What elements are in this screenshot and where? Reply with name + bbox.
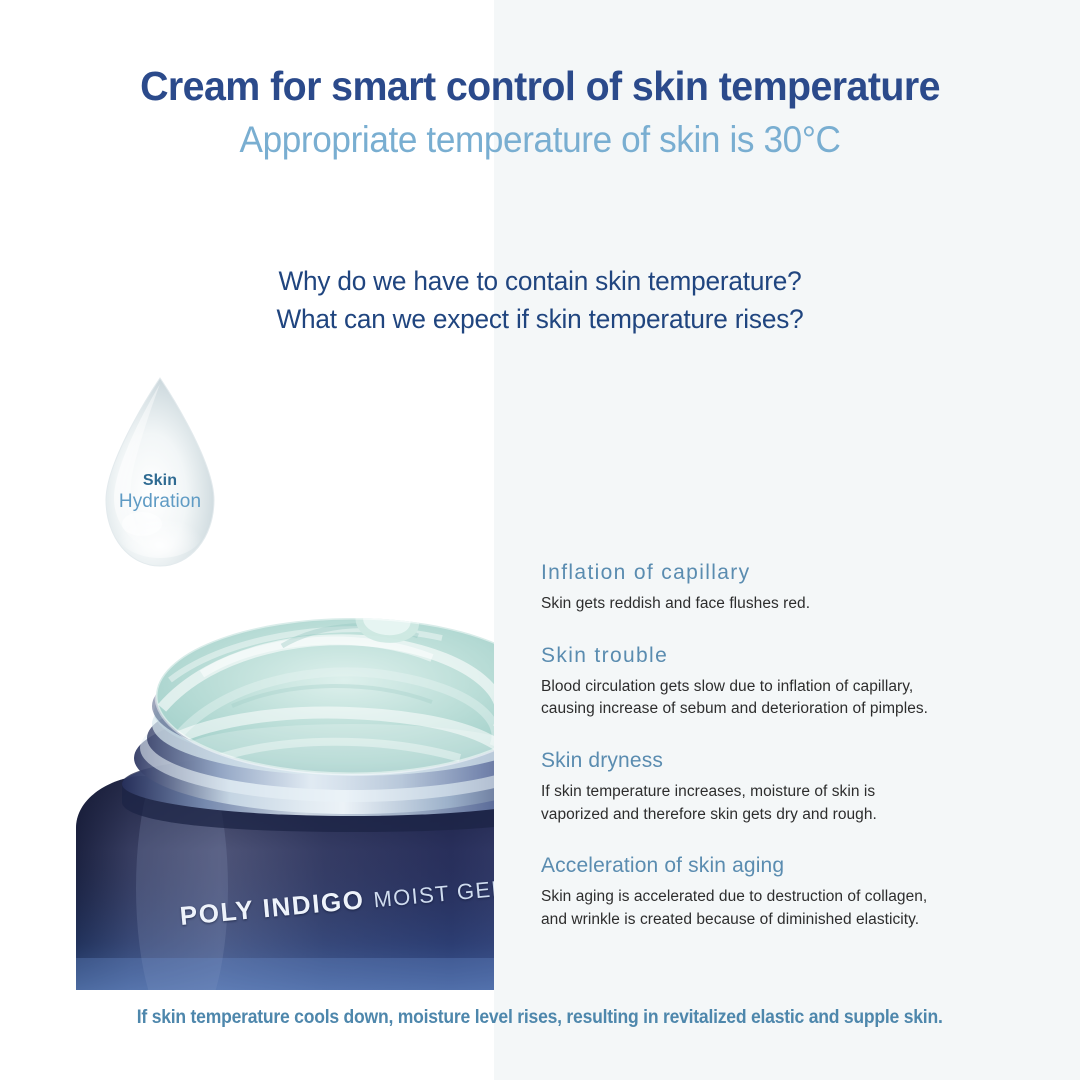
page-title: Cream for smart control of skin temperat… — [22, 64, 1059, 110]
effect-body-line: Skin aging is accelerated due to destruc… — [541, 886, 1041, 908]
effect-item-inflation-of-capillary: Inflation of capillary Skin gets reddish… — [541, 560, 1041, 616]
cream-jar-icon — [62, 588, 494, 990]
effect-body: Skin aging is accelerated due to destruc… — [541, 886, 1041, 931]
effect-body-line: causing increase of sebum and deteriorat… — [541, 698, 1041, 720]
effects-list: Inflation of capillary Skin gets reddish… — [541, 560, 1041, 931]
effect-heading: Acceleration of skin aging — [541, 853, 1041, 879]
effect-heading: Skin dryness — [541, 748, 1041, 774]
page-subtitle: Appropriate temperature of skin is 30°C — [27, 116, 1053, 164]
effect-body: If skin temperature increases, moisture … — [541, 781, 1041, 826]
product-jar-clip: POLY INDIGOMOIST GEL CRE — [0, 588, 494, 990]
water-droplet-graphic: Skin Hydration — [96, 374, 224, 570]
question-line-1: Why do we have to contain skin temperatu… — [16, 262, 1064, 300]
bottom-caption: If skin temperature cools down, moisture… — [0, 1006, 1080, 1029]
effect-body: Skin gets reddish and face flushes red. — [541, 593, 1041, 615]
effect-body: Blood circulation gets slow due to infla… — [541, 676, 1041, 721]
headline-block: Cream for smart control of skin temperat… — [0, 64, 1080, 164]
effect-body-line: If skin temperature increases, moisture … — [541, 781, 1041, 803]
effect-body-line: vaporized and therefore skin gets dry an… — [541, 804, 1041, 826]
product-jar-graphic: POLY INDIGOMOIST GEL CRE — [62, 588, 494, 990]
effect-item-skin-trouble: Skin trouble Blood circulation gets slow… — [541, 643, 1041, 721]
effect-heading: Inflation of capillary — [541, 560, 1041, 586]
effect-item-skin-dryness: Skin dryness If skin temperature increas… — [541, 748, 1041, 826]
effect-body-line: and wrinkle is created because of dimini… — [541, 909, 1041, 931]
bottom-caption-text: If skin temperature cools down, moisture… — [137, 1006, 943, 1029]
effect-heading: Skin trouble — [541, 643, 1041, 669]
question-block: Why do we have to contain skin temperatu… — [0, 262, 1080, 339]
effect-item-acceleration-of-skin-aging: Acceleration of skin aging Skin aging is… — [541, 853, 1041, 931]
droplet-icon — [96, 374, 224, 570]
effect-body-line: Skin gets reddish and face flushes red. — [541, 593, 1041, 615]
infographic-page: Cream for smart control of skin temperat… — [0, 0, 1080, 1080]
question-line-2: What can we expect if skin temperature r… — [16, 300, 1064, 338]
effect-body-line: Blood circulation gets slow due to infla… — [541, 676, 1041, 698]
